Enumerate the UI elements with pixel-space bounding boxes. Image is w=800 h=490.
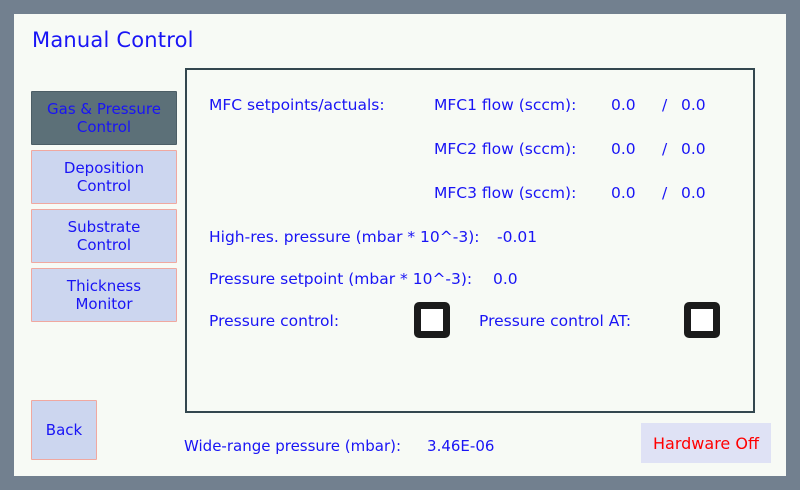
sidebar-item-gas-pressure-control[interactable]: Gas & Pressure Control <box>31 91 177 145</box>
mfc2-actual-value: 0.0 <box>681 140 706 158</box>
screen-surface: Manual Control Gas & Pressure Control De… <box>14 14 786 476</box>
wide-range-pressure-readout: Wide-range pressure (mbar):3.46E-06 <box>184 437 494 455</box>
pressure-setpoint-label: Pressure setpoint (mbar * 10^-3): <box>209 270 472 288</box>
hardware-status-button[interactable]: Hardware Off <box>641 423 771 463</box>
application-window: Manual Control Gas & Pressure Control De… <box>0 0 800 490</box>
back-button-label: Back <box>46 421 82 439</box>
pressure-control-at-checkbox[interactable] <box>684 302 720 338</box>
wide-range-pressure-value: 3.46E-06 <box>427 437 494 455</box>
pressure-control-label: Pressure control: <box>209 312 339 330</box>
mfc1-label: MFC1 flow (sccm): <box>434 96 576 114</box>
mfc3-setpoint-value[interactable]: 0.0 <box>611 184 636 202</box>
mfc2-setpoint-value[interactable]: 0.0 <box>611 140 636 158</box>
mfc3-separator: / <box>662 184 667 202</box>
mfc1-separator: / <box>662 96 667 114</box>
sidebar-item-substrate-control[interactable]: Substrate Control <box>31 209 177 263</box>
mfc-group-label: MFC setpoints/actuals: <box>209 96 385 114</box>
sidebar-item-label: Deposition Control <box>64 159 144 195</box>
high-res-pressure-label: High-res. pressure (mbar * 10^-3): <box>209 228 480 246</box>
gas-pressure-panel: MFC setpoints/actuals: MFC1 flow (sccm):… <box>185 68 755 413</box>
sidebar-nav: Gas & Pressure Control Deposition Contro… <box>31 91 177 327</box>
mfc1-setpoint-value[interactable]: 0.0 <box>611 96 636 114</box>
sidebar-item-label: Substrate Control <box>68 218 141 254</box>
mfc2-separator: / <box>662 140 667 158</box>
page-title: Manual Control <box>32 28 194 52</box>
sidebar-item-thickness-monitor[interactable]: Thickness Monitor <box>31 268 177 322</box>
pressure-setpoint-value[interactable]: 0.0 <box>493 270 518 288</box>
mfc2-label: MFC2 flow (sccm): <box>434 140 576 158</box>
pressure-control-at-label: Pressure control AT: <box>479 312 631 330</box>
wide-range-pressure-label: Wide-range pressure (mbar): <box>184 437 401 455</box>
mfc3-label: MFC3 flow (sccm): <box>434 184 576 202</box>
sidebar-item-label: Thickness Monitor <box>67 277 141 313</box>
high-res-pressure-value: -0.01 <box>497 228 537 246</box>
back-button[interactable]: Back <box>31 400 97 460</box>
mfc1-actual-value: 0.0 <box>681 96 706 114</box>
pressure-control-checkbox[interactable] <box>414 302 450 338</box>
mfc3-actual-value: 0.0 <box>681 184 706 202</box>
sidebar-item-label: Gas & Pressure Control <box>47 100 161 136</box>
sidebar-item-deposition-control[interactable]: Deposition Control <box>31 150 177 204</box>
hardware-status-label: Hardware Off <box>653 434 759 453</box>
